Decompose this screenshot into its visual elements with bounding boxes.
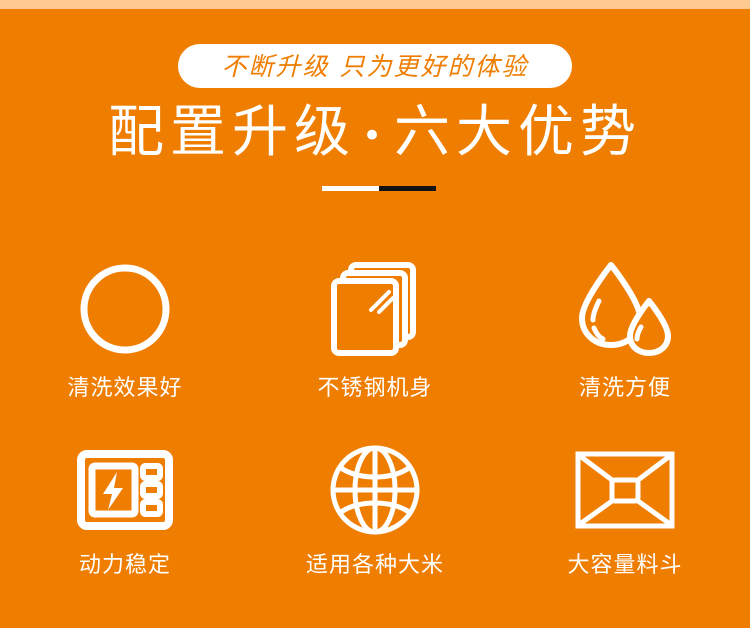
page-title-right: 六大优势 xyxy=(394,100,642,165)
title-divider xyxy=(322,186,436,191)
feature-label: 清洗效果好 xyxy=(67,377,182,401)
feature-label: 动力稳定 xyxy=(79,554,171,578)
circle-outline-icon xyxy=(70,255,180,363)
page-title-left: 配置升级 xyxy=(108,100,356,165)
hopper-icon xyxy=(570,440,680,540)
headline-badge-text: 不断升级 只为更好的体验 xyxy=(222,54,529,79)
headline-badge: 不断升级 只为更好的体验 xyxy=(178,44,572,88)
top-decorative-strip xyxy=(0,0,750,9)
feature-item-cleaning-effect: 清洗效果好 xyxy=(0,255,250,440)
power-panel-lightning-icon xyxy=(70,440,180,540)
divider-segment-dark xyxy=(379,186,436,191)
feature-label: 适用各种大米 xyxy=(306,554,444,578)
feature-item-large-hopper: 大容量料斗 xyxy=(500,440,750,625)
water-droplets-icon xyxy=(570,255,680,363)
feature-grid: 清洗效果好 不锈钢机身 xyxy=(0,255,750,625)
divider-segment-light xyxy=(322,186,379,191)
feature-item-stable-power: 动力稳定 xyxy=(0,440,250,625)
title-separator-dot: • xyxy=(356,116,394,156)
stacked-steel-plates-icon xyxy=(320,255,430,363)
feature-label: 清洗方便 xyxy=(579,377,671,401)
feature-label: 大容量料斗 xyxy=(567,554,682,578)
feature-item-stainless-body: 不锈钢机身 xyxy=(250,255,500,440)
feature-item-easy-clean: 清洗方便 xyxy=(500,255,750,440)
feature-item-all-rice-types: 适用各种大米 xyxy=(250,440,500,625)
globe-icon xyxy=(320,440,430,540)
page-title: 配置升级•六大优势 xyxy=(0,97,750,172)
feature-label: 不锈钢机身 xyxy=(317,377,432,401)
promo-banner: 不断升级 只为更好的体验 配置升级•六大优势 清洗效果好 xyxy=(0,0,750,628)
